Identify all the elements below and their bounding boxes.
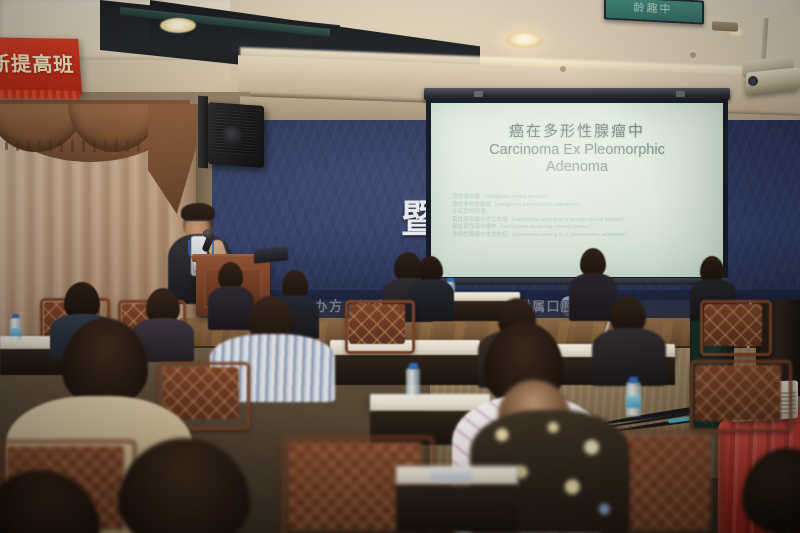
table-skirt <box>396 485 518 533</box>
chair-lattice-back <box>695 365 781 421</box>
slide-bullet: 多形性腺瘤中发生的癌（carcinoma arising in a pleomo… <box>452 232 714 240</box>
ceiling-fixture-dot <box>560 66 566 72</box>
bottle-cap <box>629 377 638 383</box>
bottle-cap <box>12 314 19 318</box>
chair-lattice-back <box>704 304 762 346</box>
water-bottle <box>406 368 420 396</box>
bottle-label <box>10 328 21 336</box>
bottle-label <box>626 396 641 408</box>
conference-hall-photo: 龄趣中 新提高班 2013年 暨第二届口 承办方：福建医科大学口腔医学院附属口腔… <box>0 0 800 533</box>
slide-bullet: 恶性混合瘤（malignant mixed tumour） <box>452 194 714 202</box>
handout-paper <box>430 470 472 481</box>
projector-lens-icon <box>748 76 758 86</box>
pa-speaker-cone-icon <box>222 125 242 146</box>
table-skirt <box>330 355 480 385</box>
screen-hook <box>676 91 685 97</box>
chair-lattice-back <box>349 304 405 344</box>
red-banner-text: 新提高班 <box>0 47 79 77</box>
slide-title-english: Carcinoma Ex Pleomorphic Adenoma <box>431 142 723 176</box>
slide-title-chinese: 癌在多形性腺瘤中 <box>431 120 723 141</box>
chair-lattice-back <box>163 367 239 419</box>
slide-bullet-list: 恶性混合瘤（malignant mixed tumour） 恶性多形性腺瘤（ma… <box>452 194 714 240</box>
ceiling-fixture-dot <box>690 52 696 58</box>
banner-fringe <box>0 89 80 100</box>
pa-speaker-bracket <box>198 96 208 169</box>
ceiling-downlight-icon <box>506 32 544 48</box>
slide-bullet: 癌在良性混合瘤中（carcinoma ex benign mixed tumou… <box>452 224 714 232</box>
ceiling-vent <box>712 21 738 31</box>
presenter-glasses-icon <box>185 219 210 227</box>
ceiling-downlight-icon <box>160 18 196 33</box>
bottle-cap <box>447 278 454 282</box>
slide-title-english-line1: Carcinoma Ex Pleomorphic <box>489 142 665 158</box>
slide-bullet: 恶性多形性腺瘤（malignant pleomorphic adenoma） <box>452 202 714 210</box>
screen-hook <box>474 91 483 97</box>
slide-bullet: 亦有其他称谓： <box>452 209 714 217</box>
microphone-head-icon <box>203 229 213 238</box>
bottle-cap <box>409 363 418 369</box>
slide-title-english-line2: Adenoma <box>546 159 608 175</box>
